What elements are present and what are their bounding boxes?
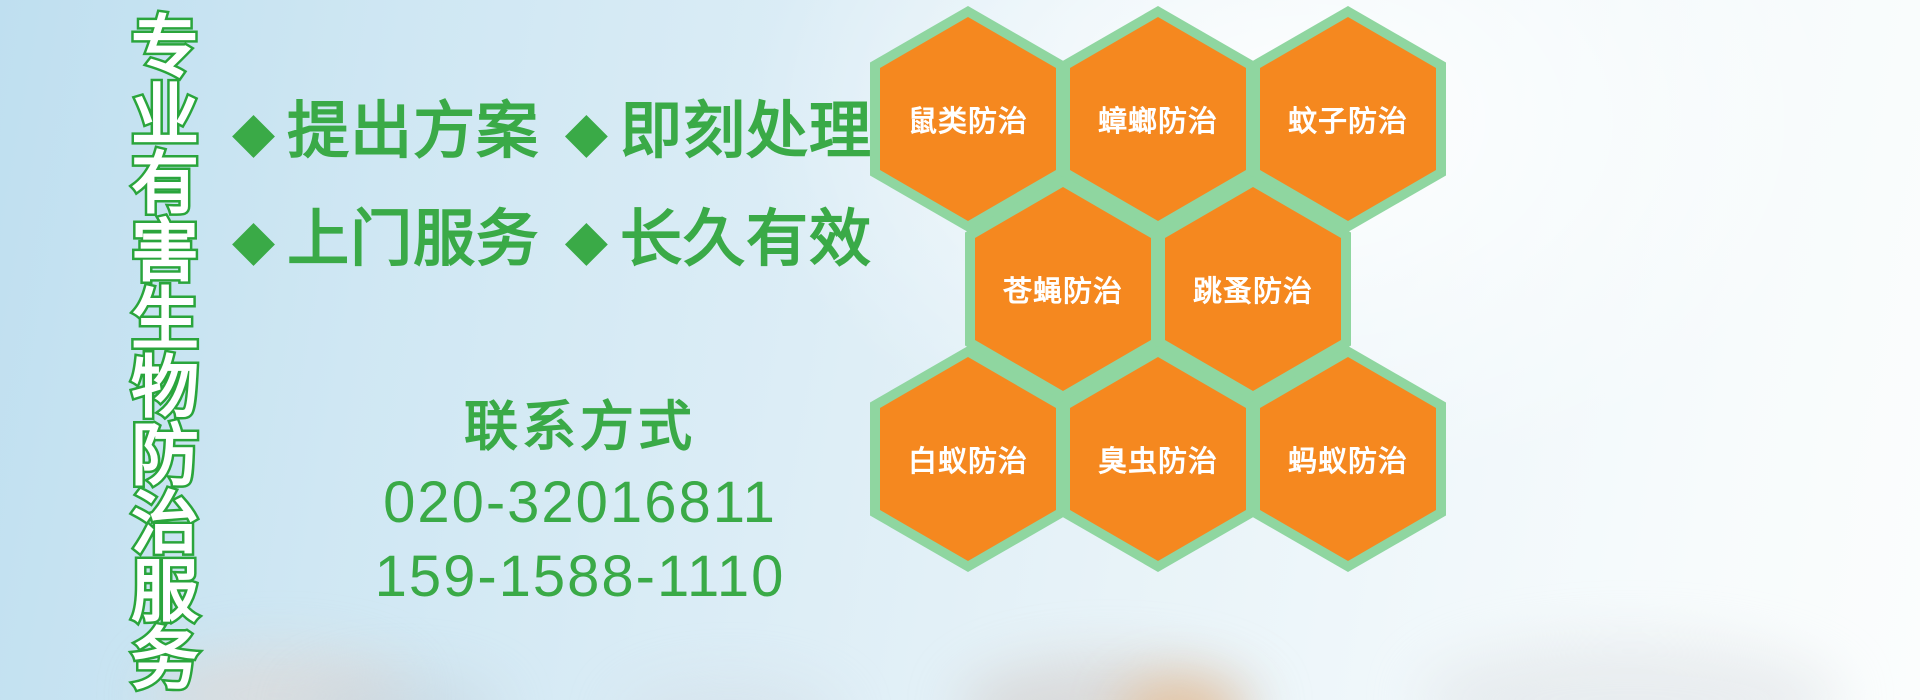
vertical-headline: 专 业 有 害 生 物 防 治 服 务	[112, 14, 218, 694]
service-label: 鼠类防治	[908, 98, 1028, 140]
vertical-headline-char: 专	[131, 14, 199, 82]
hex-inner: 蟑螂防治	[1070, 17, 1246, 221]
hex-inner: 蚊子防治	[1260, 17, 1436, 221]
service-label: 蚊子防治	[1288, 98, 1408, 140]
service-label: 蟑螂防治	[1098, 98, 1218, 140]
feature-item-onsite-service: ◆ 上门服务	[232, 209, 539, 271]
background-blur-blob	[300, 676, 500, 700]
feature-list: ◆ 提出方案 ◆ 即刻处理 ◆ 上门服务 ◆ 长久有效	[232, 78, 872, 294]
service-label: 苍蝇防治	[1003, 268, 1123, 310]
hex-inner: 苍蝇防治	[975, 187, 1151, 391]
feature-label: 长久有效	[620, 209, 872, 271]
vertical-headline-char: 物	[131, 354, 199, 422]
feature-row: ◆ 提出方案 ◆ 即刻处理	[232, 78, 872, 186]
vertical-headline-char: 生	[131, 286, 199, 354]
contact-block: 联系方式 020-32016811 159-1588-1110	[300, 396, 860, 614]
diamond-bullet-icon: ◆	[565, 212, 608, 268]
service-hexagon-grid: 鼠类防治 蟑螂防治 蚊子防治 苍蝇防治 跳蚤防治 白蚁防治	[862, 0, 1462, 700]
feature-item-immediate-handling: ◆ 即刻处理	[565, 101, 872, 163]
vertical-headline-char: 防	[131, 422, 199, 490]
pest-control-banner: 专 业 有 害 生 物 防 治 服 务 ◆ 提出方案 ◆ 即刻处理 ◆ 上门服务	[0, 0, 1920, 700]
hex-inner: 鼠类防治	[880, 17, 1056, 221]
background-blur-blob	[620, 680, 840, 700]
service-label: 白蚁防治	[908, 438, 1028, 480]
feature-item-long-lasting: ◆ 长久有效	[565, 209, 872, 271]
diamond-bullet-icon: ◆	[232, 212, 275, 268]
hex-inner: 臭虫防治	[1070, 357, 1246, 561]
vertical-headline-char: 服	[131, 558, 199, 626]
contact-phone-mobile[interactable]: 159-1588-1110	[300, 540, 860, 614]
feature-row: ◆ 上门服务 ◆ 长久有效	[232, 186, 872, 294]
vertical-headline-char: 业	[131, 82, 199, 150]
service-label: 蚂蚁防治	[1288, 438, 1408, 480]
diamond-bullet-icon: ◆	[565, 104, 608, 160]
vertical-headline-char: 害	[131, 218, 199, 286]
background-blur-blob	[1420, 640, 1840, 700]
feature-label: 提出方案	[287, 101, 539, 163]
hex-inner: 蚂蚁防治	[1260, 357, 1436, 561]
hex-inner: 白蚁防治	[880, 357, 1056, 561]
feature-label: 即刻处理	[620, 101, 872, 163]
hex-inner: 跳蚤防治	[1165, 187, 1341, 391]
vertical-headline-char: 务	[131, 626, 199, 694]
contact-title: 联系方式	[300, 396, 860, 458]
diamond-bullet-icon: ◆	[232, 104, 275, 160]
vertical-headline-char: 治	[131, 490, 199, 558]
vertical-headline-char: 有	[131, 150, 199, 218]
feature-item-propose-plan: ◆ 提出方案	[232, 101, 539, 163]
service-label: 臭虫防治	[1098, 438, 1218, 480]
feature-label: 上门服务	[287, 209, 539, 271]
service-label: 跳蚤防治	[1193, 268, 1313, 310]
contact-phone-landline[interactable]: 020-32016811	[300, 466, 860, 540]
